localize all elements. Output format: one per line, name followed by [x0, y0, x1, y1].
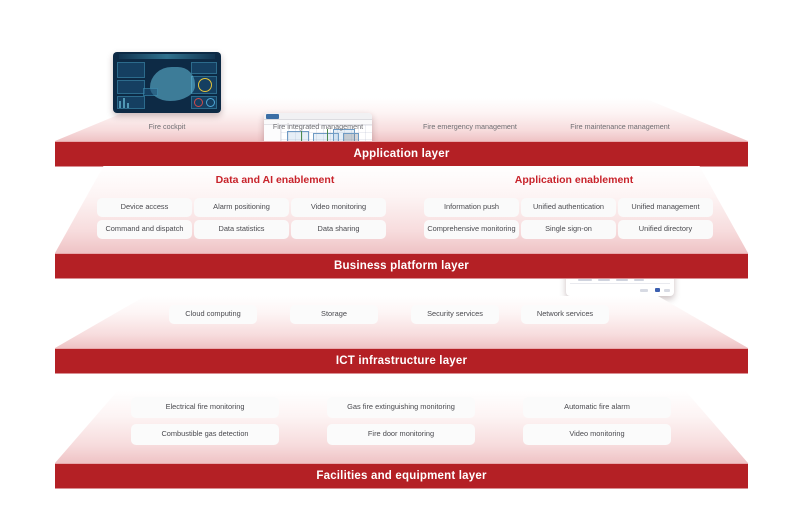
thumb4-pagination-prev[interactable]	[640, 289, 648, 292]
layer-bar-facilities-and-equipment-label: Facilities and equipment layer	[316, 470, 486, 482]
pill-combustible-gas-detection[interactable]: Combustible gas detection	[131, 424, 279, 445]
pill-video-monitoring-bpl[interactable]: Video monitoring	[291, 198, 386, 217]
thumb4-row-cell-5	[578, 279, 592, 281]
pill-information-push[interactable]: Information push	[424, 198, 519, 217]
thumbnail-caption-fire-maintenance-management: Fire maintenance management	[535, 122, 705, 131]
pill-electrical-fire-monitoring[interactable]: Electrical fire monitoring	[131, 397, 279, 418]
pill-automatic-fire-alarm[interactable]: Automatic fire alarm	[523, 397, 671, 418]
layer-bar-application-label: Application layer	[353, 148, 449, 160]
thumb2-active-tab	[266, 114, 279, 119]
thumbnail-caption-fire-cockpit: Fire cockpit	[82, 122, 252, 131]
pill-unified-authentication[interactable]: Unified authentication	[521, 198, 616, 217]
pill-security-services[interactable]: Security services	[411, 305, 499, 324]
thumb4-row-cell-7	[616, 279, 628, 281]
group-heading-data-ai-enablement: Data and AI enablement	[125, 174, 425, 186]
thumb1-gauge-ring-blue	[206, 98, 215, 107]
thumb1-left-panel	[117, 62, 145, 78]
pill-alarm-positioning[interactable]: Alarm positioning	[194, 198, 289, 217]
pill-cloud-computing[interactable]: Cloud computing	[169, 305, 257, 324]
layer-bar-business-platform-label: Business platform layer	[334, 260, 469, 272]
pill-command-and-dispatch[interactable]: Command and dispatch	[97, 220, 192, 239]
thumb1-left-panel-3	[117, 96, 145, 109]
pill-video-monitoring-facilities[interactable]: Video monitoring	[523, 424, 671, 445]
pill-single-sign-on[interactable]: Single sign-on	[521, 220, 616, 239]
thumb4-pagination-next[interactable]	[664, 289, 670, 292]
layer-bar-business-platform[interactable]: Business platform layer	[55, 253, 748, 279]
thumbnail-fire-cockpit[interactable]	[113, 52, 221, 113]
pill-data-sharing[interactable]: Data sharing	[291, 220, 386, 239]
thumb1-header-strip	[119, 54, 215, 59]
layer-bar-facilities-and-equipment[interactable]: Facilities and equipment layer	[55, 463, 748, 489]
pill-network-services[interactable]: Network services	[521, 305, 609, 324]
thumb1-left-panel-2	[117, 80, 145, 94]
pill-storage[interactable]: Storage	[290, 305, 378, 324]
ict-infrastructure-layer-slab	[55, 296, 748, 348]
pill-unified-management[interactable]: Unified management	[618, 198, 713, 217]
layer-bar-application[interactable]: Application layer	[55, 141, 748, 167]
architecture-diagram: Fire cockpit Fire integrated management	[0, 0, 800, 529]
thumb4-row-cell-8	[634, 279, 644, 281]
thumb1-bar-chart-3	[127, 103, 129, 108]
thumbnail-caption-fire-integrated-management: Fire integrated management	[233, 122, 403, 131]
pill-unified-directory[interactable]: Unified directory	[618, 220, 713, 239]
pill-data-statistics[interactable]: Data statistics	[194, 220, 289, 239]
thumb2-titlebar	[264, 113, 372, 120]
pill-device-access[interactable]: Device access	[97, 198, 192, 217]
group-heading-application-enablement: Application enablement	[424, 174, 724, 186]
thumb1-bar-chart-1	[119, 101, 121, 108]
thumb4-pagination-current[interactable]	[655, 288, 660, 292]
thumb4-row-cell-6	[598, 279, 610, 281]
layer-bar-ict-infrastructure[interactable]: ICT infrastructure layer	[55, 348, 748, 374]
layer-bar-ict-infrastructure-label: ICT infrastructure layer	[336, 355, 467, 367]
thumb1-gauge-ring-yellow	[198, 78, 212, 92]
thumb1-map-callout	[143, 88, 158, 96]
pill-fire-door-monitoring[interactable]: Fire door monitoring	[327, 424, 475, 445]
thumbnail-caption-fire-emergency-management: Fire emergency management	[385, 122, 555, 131]
thumb1-gauge-ring-red	[194, 98, 203, 107]
thumb1-right-panel	[191, 62, 217, 74]
pill-comprehensive-monitoring[interactable]: Comprehensive monitoring	[424, 220, 519, 239]
pill-gas-fire-extinguishing-monitoring[interactable]: Gas fire extinguishing monitoring	[327, 397, 475, 418]
thumb1-bar-chart-2	[123, 98, 125, 108]
thumb4-table-row-divider-2	[570, 283, 670, 284]
